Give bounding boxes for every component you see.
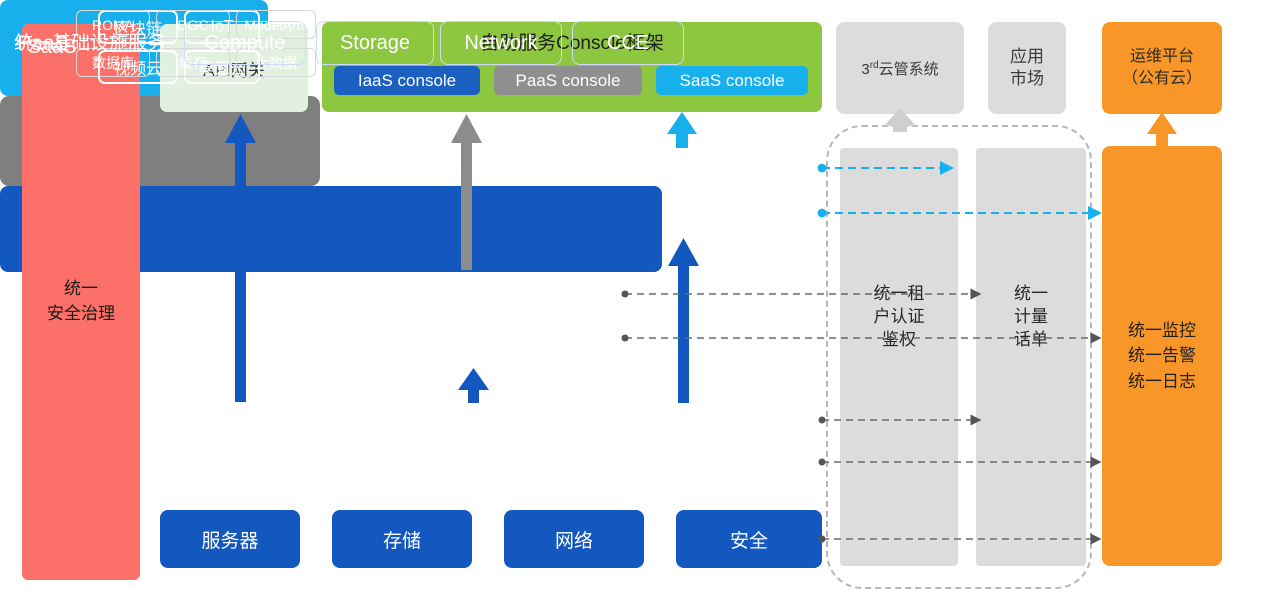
auth-line-2: 户认证 xyxy=(840,306,958,329)
saas-console-chip[interactable]: SaaS console xyxy=(656,66,808,95)
auth-line-1: 统一租 xyxy=(840,283,958,306)
billing-line-2: 计量 xyxy=(976,306,1086,329)
unified-billing-column xyxy=(976,148,1086,566)
unified-tenant-auth-column xyxy=(840,148,958,566)
resource-box-server[interactable]: 服务器 xyxy=(160,510,300,568)
architecture-diagram: 统一 安全治理 API网关 自助服务Console框架 IaaS console… xyxy=(0,0,1265,605)
third-party-cloud-prefix: 3 xyxy=(861,61,869,78)
unified-monitoring-column: 统一监控 统一告警 统一日志 xyxy=(1102,146,1222,566)
ops-platform-public-cloud-box: 运维平台 （公有云） xyxy=(1102,22,1222,114)
paas-console-chip[interactable]: PaaS console xyxy=(494,66,642,95)
iaas-chip-cce[interactable]: CCE xyxy=(572,21,684,65)
iaas-chip-compute[interactable]: Compute xyxy=(184,21,306,65)
iaas-console-label: IaaS console xyxy=(358,71,456,91)
auth-line-3: 鉴权 xyxy=(840,329,958,352)
ops-column-line1: 统一监控 xyxy=(1128,318,1196,344)
ops-platform-line1: 运维平台 xyxy=(1122,46,1202,68)
arrow-ops-column-to-ops-platform xyxy=(1147,112,1177,148)
resource-box-security-label: 安全 xyxy=(730,526,768,553)
saas-console-label: SaaS console xyxy=(680,71,785,91)
resource-box-network[interactable]: 网络 xyxy=(504,510,644,568)
iaas-chip-storage-label: Storage xyxy=(340,32,410,55)
paas-chip-database-label: 数据库 xyxy=(92,53,134,73)
billing-line-1: 统一 xyxy=(976,283,1086,306)
resource-box-storage[interactable]: 存储 xyxy=(332,510,472,568)
iaas-chip-storage[interactable]: Storage xyxy=(316,21,434,65)
security-governance-line1: 统一 xyxy=(47,277,115,302)
iaas-chip-compute-label: Compute xyxy=(204,32,285,55)
ops-column-line2: 统一告警 xyxy=(1128,343,1196,369)
unified-infrastructure-label: 统一基础设施服务 xyxy=(14,28,166,55)
billing-line-3: 话单 xyxy=(976,329,1086,352)
resource-box-storage-label: 存储 xyxy=(383,526,421,553)
arrow-saas-to-saas-console xyxy=(667,112,697,148)
ops-column-line3: 统一日志 xyxy=(1128,369,1196,395)
arrow-iaas-to-saas xyxy=(668,238,699,403)
security-governance-column: 统一 安全治理 xyxy=(22,24,140,580)
app-market-box: 应用 市场 xyxy=(988,22,1066,114)
arrow-iaas-to-paas xyxy=(458,368,489,403)
resource-box-security[interactable]: 安全 xyxy=(676,510,822,568)
security-governance-line2: 安全治理 xyxy=(47,302,115,327)
third-party-cloud-mgmt-box: 3rd云管系统 xyxy=(836,22,964,114)
ops-platform-line2: （公有云） xyxy=(1122,68,1202,90)
app-market-line1: 应用 xyxy=(1010,46,1044,68)
iaas-console-chip[interactable]: IaaS console xyxy=(334,66,480,95)
unified-tenant-auth-text: 统一租 户认证 鉴权 xyxy=(840,283,958,352)
iaas-chip-network-label: Network xyxy=(464,32,537,55)
app-market-line2: 市场 xyxy=(1010,68,1044,90)
paas-console-label: PaaS console xyxy=(516,71,621,91)
resource-box-network-label: 网络 xyxy=(555,526,593,553)
iaas-chip-network[interactable]: Network xyxy=(440,21,562,65)
third-party-cloud-label: 3rd云管系统 xyxy=(861,58,938,79)
third-party-cloud-sup: rd xyxy=(870,60,879,71)
resource-box-server-label: 服务器 xyxy=(201,526,258,553)
third-party-cloud-suffix: 云管系统 xyxy=(879,61,939,78)
unified-billing-text: 统一 计量 话单 xyxy=(976,283,1086,352)
iaas-chip-cce-label: CCE xyxy=(607,32,649,55)
